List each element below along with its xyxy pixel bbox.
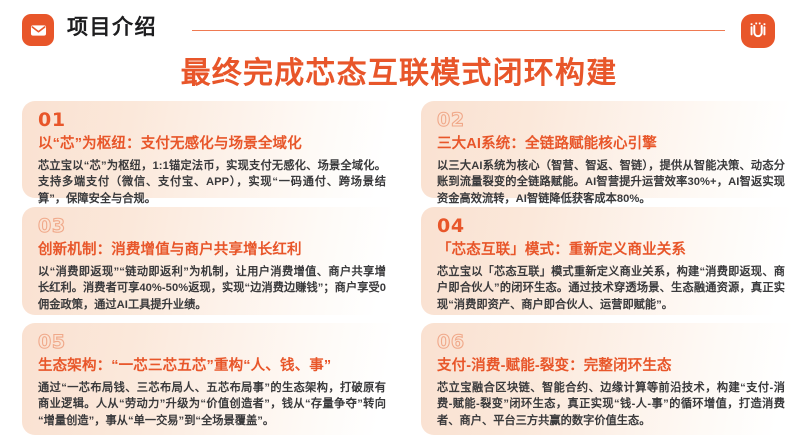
feature-card-grid: 01 以“芯”为枢纽：支付无感化与场景全域化 芯立宝以“芯”为枢纽，1:1锚定法… (0, 101, 798, 440)
feature-card-05: 05 生态架构：“一芯三芯五芯”重构“人、钱、事” 通过“一芯布局钱、三芯布局人… (22, 323, 400, 435)
card-number: 05 (38, 331, 386, 354)
page-header: 项目介绍 (0, 0, 798, 56)
card-body: 芯立宝以「芯态互联」模式重新定义商业关系，构建“消费即返现、商户即合伙人”的闭环… (437, 264, 785, 313)
card-number: 02 (437, 109, 785, 132)
feature-card-04: 04 「芯态互联」模式：重新定义商业关系 芯立宝以「芯态互联」模式重新定义商业关… (421, 207, 798, 315)
card-heading: 创新机制：消费增值与商户共享增长红利 (38, 240, 386, 261)
envelope-icon (22, 14, 54, 46)
card-heading: 三大AI系统：全链路赋能核心引擎 (437, 134, 785, 155)
feature-card-06: 06 支付-消费-赋能-裂变：完整闭环生态 芯立宝融合区块链、智能合约、边缘计算… (421, 323, 798, 435)
feature-card-02: 02 三大AI系统：全链路赋能核心引擎 以三大AI系统为核心（智营、智返、智链）… (421, 101, 798, 198)
card-heading: 以“芯”为枢纽：支付无感化与场景全域化 (38, 134, 386, 155)
card-number: 04 (437, 215, 785, 238)
card-body: 芯立宝以“芯”为枢纽，1:1锚定法币，实现支付无感化、场景全域化。支持多端支付（… (38, 158, 386, 207)
card-heading: 生态架构：“一芯三芯五芯”重构“人、钱、事” (38, 356, 386, 377)
feature-card-01: 01 以“芯”为枢纽：支付无感化与场景全域化 芯立宝以“芯”为枢纽，1:1锚定法… (22, 101, 400, 198)
card-body: 以三大AI系统为核心（智营、智返、智链），提供从智能决策、动态分账到流量裂变的全… (437, 158, 785, 207)
card-body: 以“消费即返现”“链动即返利”为机制，让用户消费增值、商户共享增长红利。消费者可… (38, 264, 386, 313)
card-body: 芯立宝融合区块链、智能合约、边缘计算等前沿技术，构建“支付-消费-赋能-裂变”闭… (437, 380, 785, 429)
brand-logo-icon (741, 14, 775, 48)
main-headline: 最终完成芯态互联模式闭环构建 (0, 54, 798, 94)
feature-card-03: 03 创新机制：消费增值与商户共享增长红利 以“消费即返现”“链动即返利”为机制… (22, 207, 400, 315)
card-body: 通过“一芯布局钱、三芯布局人、五芯布局事”的生态架构，打破原有商业逻辑。人从“劳… (38, 380, 386, 429)
header-divider (192, 30, 725, 31)
page-title: 项目介绍 (67, 13, 157, 43)
card-heading: 支付-消费-赋能-裂变：完整闭环生态 (437, 356, 785, 377)
card-number: 03 (38, 215, 386, 238)
card-number: 06 (437, 331, 785, 354)
card-number: 01 (38, 109, 386, 132)
card-heading: 「芯态互联」模式：重新定义商业关系 (437, 240, 785, 261)
